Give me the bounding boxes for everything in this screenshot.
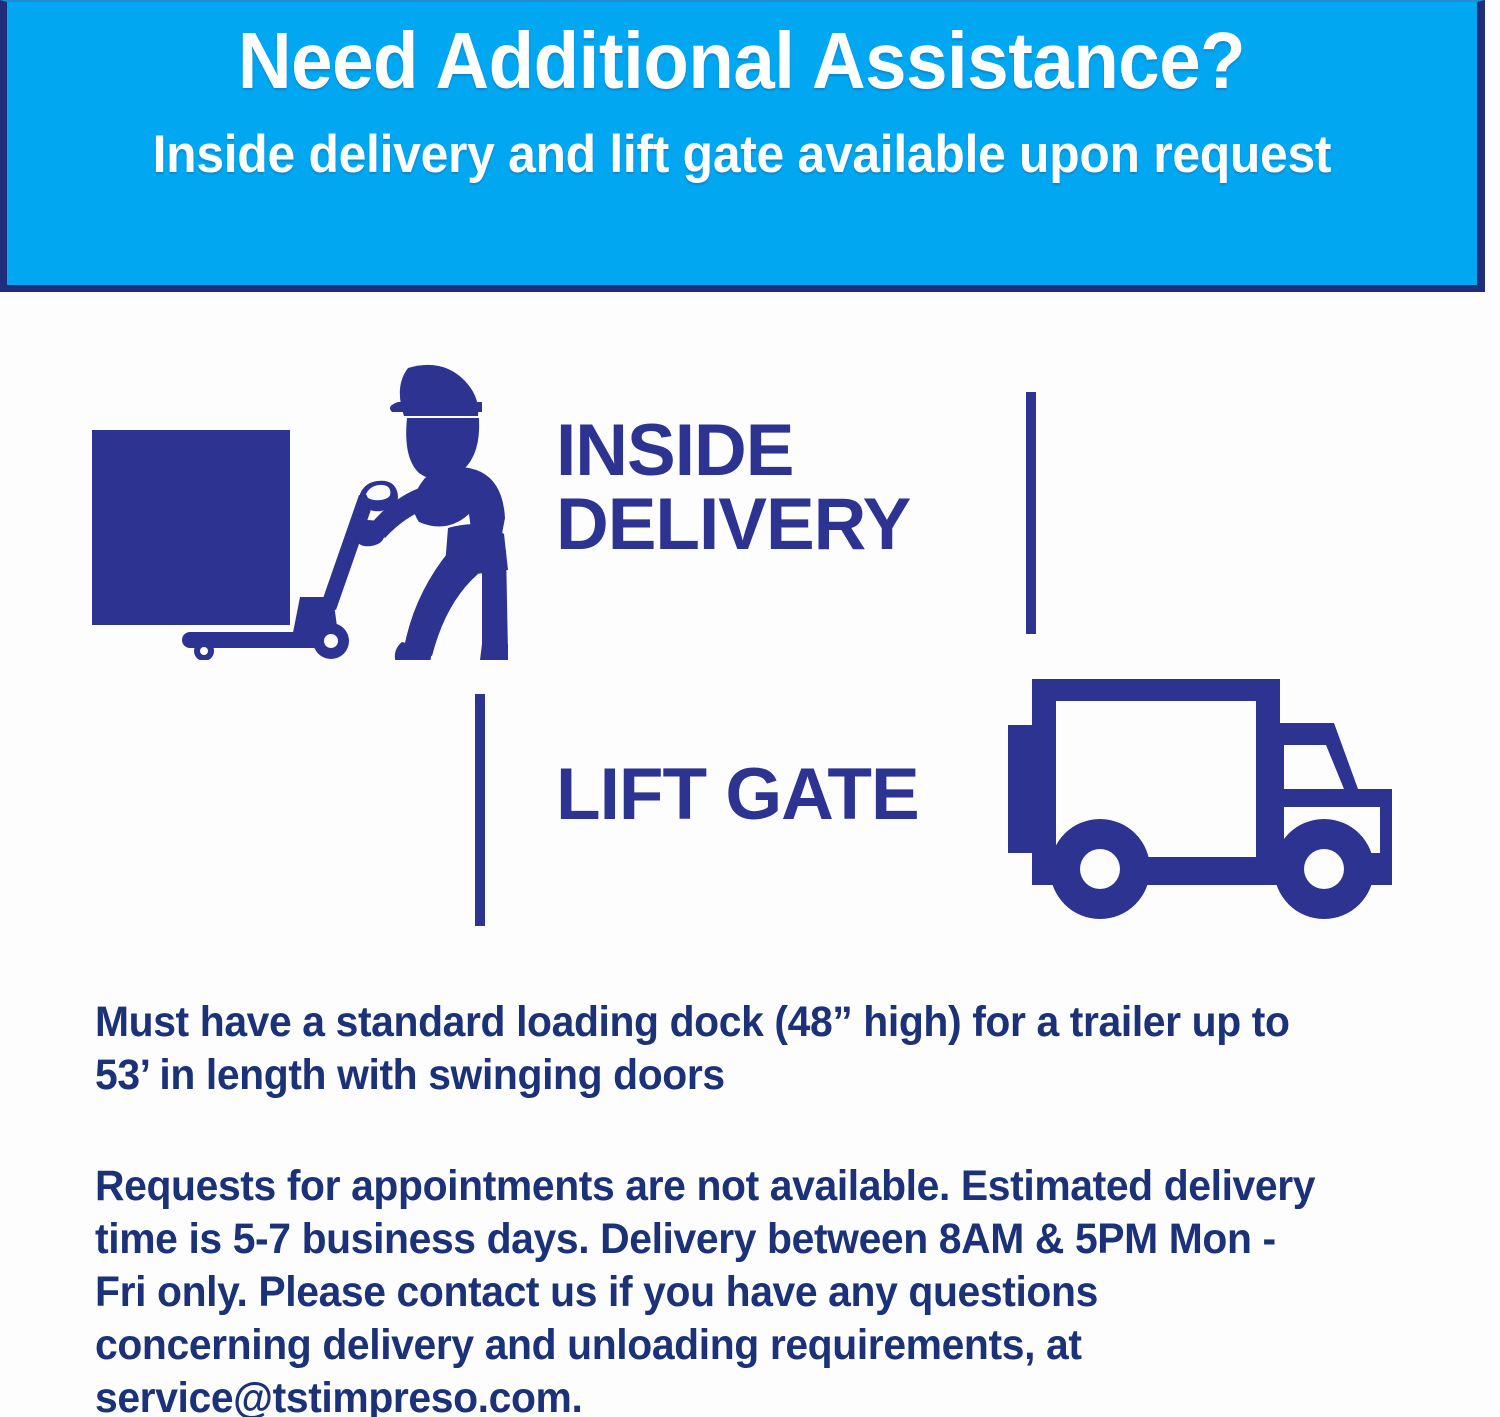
delivery-details: Must have a standard loading dock (48” h… bbox=[95, 996, 1385, 1417]
banner-subtitle: Inside delivery and lift gate available … bbox=[153, 128, 1332, 182]
divider-inside-delivery bbox=[1026, 392, 1036, 634]
worker-pallet-jack-icon bbox=[78, 360, 518, 660]
divider-lift-gate bbox=[475, 694, 485, 926]
box-truck-icon bbox=[1000, 667, 1420, 929]
dock-requirement-text: Must have a standard loading dock (48” h… bbox=[95, 996, 1321, 1102]
header-banner: Need Additional Assistance? Inside deliv… bbox=[0, 0, 1485, 292]
lift-gate-label: LIFT GATE bbox=[556, 758, 1016, 832]
delivery-terms-text: Requests for appointments are not availa… bbox=[95, 1160, 1321, 1417]
page-title: Need Additional Assistance? bbox=[238, 20, 1245, 102]
delivery-assistance-infographic: Need Additional Assistance? Inside deliv… bbox=[0, 0, 1500, 1417]
inside-delivery-label: INSIDE DELIVERY bbox=[556, 414, 1006, 563]
services-section: INSIDE DELIVERY LIFT GATE bbox=[0, 292, 1500, 952]
